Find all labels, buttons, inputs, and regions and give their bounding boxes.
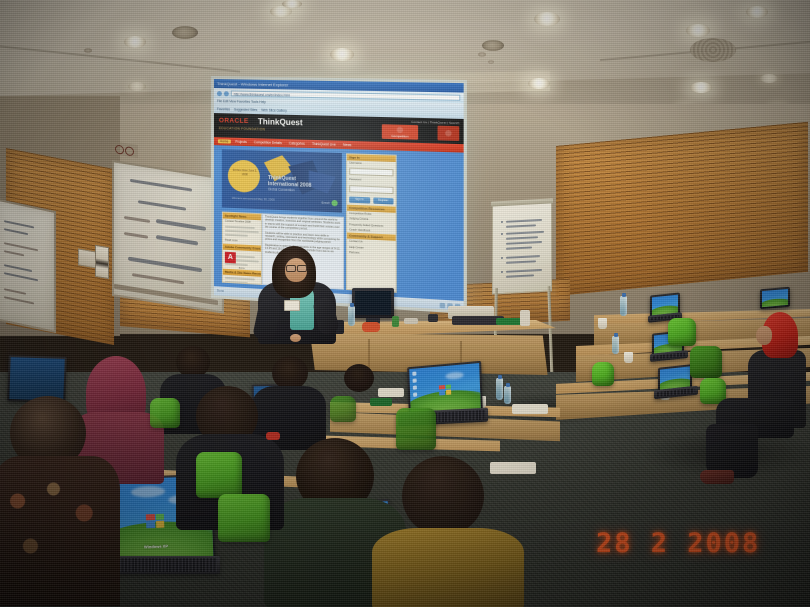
ceiling-downlight [124, 36, 146, 48]
whiteboard-left [0, 198, 56, 333]
adobe-logo-icon: A [225, 252, 236, 264]
chair[interactable] [150, 398, 180, 428]
paper-sheet [378, 388, 404, 397]
zone-icon [440, 303, 445, 309]
ceiling-downlight [534, 12, 560, 26]
username-label: Username [347, 160, 396, 167]
wall-switch-panel[interactable] [95, 245, 109, 279]
status-text: Done [217, 288, 224, 292]
menu-cta-button[interactable] [438, 126, 460, 141]
ceiling-downlight [528, 78, 550, 89]
thinkquest-logo: ThinkQuest [258, 117, 303, 127]
browser-viewport: ORACLE ThinkQuest EDUCATION FOUNDATION C… [214, 113, 464, 301]
photograph: ThinkQuest - Windows Internet Explorer h… [0, 0, 810, 607]
logo-subtitle: EDUCATION FOUNDATION [219, 126, 265, 131]
hero-badge-text: Entries close June 5, 2008 [232, 169, 258, 184]
competition-cta-label: Competition [391, 133, 408, 138]
nav-item-projects[interactable]: Projects [233, 140, 249, 144]
presenter-hand [290, 334, 301, 342]
chair[interactable] [668, 318, 696, 346]
water-bottle [612, 336, 619, 354]
hero-enroll-button[interactable]: Enroll [321, 199, 337, 206]
podium-monitor [352, 288, 394, 318]
audience-head [344, 364, 374, 392]
nav-item-competition-details[interactable]: Competition Details [252, 140, 284, 145]
ceiling-downlight [686, 24, 710, 37]
enroll-arrow-icon [331, 200, 337, 206]
sprinkler-head-icon [84, 48, 92, 53]
nav-item-home[interactable]: Home [218, 139, 230, 143]
hero-footnote: Winners announced May 30, 2008 [232, 196, 275, 202]
ceiling-downlight [690, 82, 712, 93]
desk-object [404, 318, 418, 324]
competition-icon [397, 126, 403, 132]
support-link-partners[interactable]: Partners [347, 250, 396, 258]
presenter-name-badge [284, 300, 300, 311]
green-device [370, 398, 392, 406]
nav-item-categories[interactable]: Categories [287, 141, 307, 146]
camera-date-stamp: 28 2 2008 [596, 528, 760, 559]
back-icon[interactable] [217, 91, 222, 96]
ceiling-vent [690, 38, 736, 62]
hero-subheading: Global Convention [268, 187, 295, 192]
oracle-logo: ORACLE [219, 117, 249, 125]
favorites-link[interactable]: Favorites [217, 107, 230, 111]
water-bottle [496, 378, 503, 400]
forward-icon[interactable] [224, 91, 229, 96]
attendee-shoe [700, 470, 734, 484]
orange-object [362, 322, 380, 332]
username-input[interactable] [349, 168, 393, 177]
sign-in-button[interactable]: Sign In [349, 196, 369, 203]
sprinkler-head-icon [478, 52, 486, 57]
ceiling-speaker-icon [172, 26, 198, 39]
adobe-grant-heading: Adobe Community Grant [223, 243, 261, 251]
chair[interactable] [592, 362, 614, 386]
enroll-label: Enroll [321, 201, 329, 205]
water-bottle [620, 296, 627, 316]
audience-head [402, 456, 484, 536]
desk-object [428, 314, 438, 322]
wood-slat-panel-right [556, 122, 808, 296]
password-label: Password [347, 177, 396, 184]
chair[interactable] [690, 346, 722, 378]
audience-body-batik [0, 456, 120, 606]
windows-logo-icon [439, 384, 451, 395]
paper-sheet [490, 462, 536, 474]
audience-head [272, 356, 308, 390]
password-input[interactable] [349, 185, 393, 194]
ceiling-downlight [746, 6, 768, 18]
suggested-sites-link[interactable]: Suggested Sites [234, 108, 257, 113]
left-sidebar: Spotlight News Contest Timeline 2008 Rea… [222, 211, 262, 285]
cup [598, 318, 607, 329]
right-sidebar: Sign In Username Password Sign In Regist… [346, 153, 397, 293]
competition-cta-button[interactable]: Competition [382, 124, 418, 140]
audience-body [372, 528, 524, 607]
menu-icon [445, 130, 452, 136]
media-resources-heading: Media & Site News Resources [223, 268, 261, 276]
register-button[interactable]: Register [373, 197, 394, 204]
green-device [496, 318, 522, 325]
nav-item-news[interactable]: News [341, 143, 354, 147]
windows-xp-label: Windows XP [144, 543, 168, 549]
ceiling-speaker-icon [482, 40, 504, 51]
hero-banner: Entries close June 5, 2008 ThinkQuest In… [222, 149, 342, 212]
desk-object [392, 316, 399, 327]
chair[interactable] [330, 396, 356, 422]
ceiling-downlight [330, 48, 354, 61]
desk-object [520, 310, 530, 326]
red-wristband [266, 432, 280, 440]
cup [624, 352, 633, 363]
site-body: Entries close June 5, 2008 ThinkQuest In… [214, 145, 464, 301]
flipchart-easel [492, 201, 552, 294]
ceiling-downlight [760, 74, 778, 83]
ceiling-downlight [128, 82, 146, 91]
site-top-links[interactable]: Contact Us | ThinkQuest | Search [411, 120, 459, 125]
water-bottle [504, 386, 511, 404]
hero-polygon-shape [309, 170, 336, 194]
chair[interactable] [196, 452, 242, 498]
presenter-glasses-icon [286, 265, 306, 270]
spotlight-news-title: Contest Timeline 2008 [223, 219, 261, 226]
nav-item-thinkquest-live[interactable]: ThinkQuest Live [310, 142, 338, 147]
attendee-face [756, 326, 772, 345]
chair[interactable] [396, 408, 436, 450]
sprinkler-head-icon [488, 60, 494, 64]
chair[interactable] [218, 494, 270, 542]
windows-logo-icon [146, 513, 164, 528]
projection-screen: ThinkQuest - Windows Internet Explorer h… [211, 76, 467, 314]
ceiling-downlight [282, 0, 302, 8]
web-slice-link[interactable]: Web Slice Gallery [261, 108, 287, 113]
paper-sheet [512, 404, 548, 414]
water-bottle [348, 306, 355, 326]
